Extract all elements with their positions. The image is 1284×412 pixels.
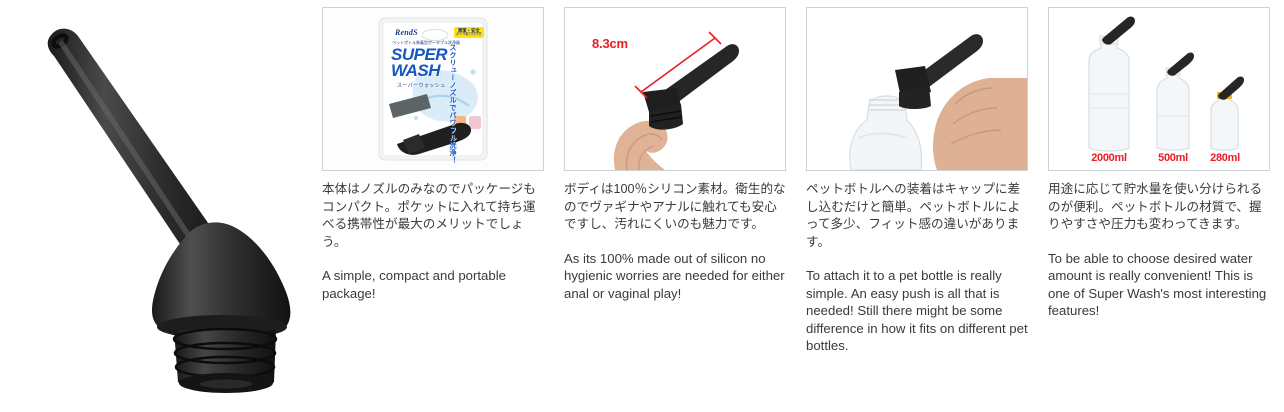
- caption-en: To be able to choose desired water amoun…: [1048, 250, 1270, 320]
- package-badge: 清潔・安全 ボトル取り付け式: [454, 27, 484, 38]
- package-badge-line2: ボトル取り付け式: [456, 33, 482, 37]
- package-kana: スーパーウォッシュ: [397, 82, 446, 89]
- hang-hole: [422, 30, 448, 41]
- three-bottle-sizes-photo: 2000ml 500ml 280ml: [1048, 7, 1270, 171]
- feature-column-package: RendS ペットボトル装着型ポータブル洗浄器 SUPER WASH スーパーウ…: [322, 0, 546, 412]
- bottle-sizes-illustration: [1049, 8, 1269, 170]
- feature-column-capacity: 2000ml 500ml 280ml 用途に応じて貯水量を使い分けられるのが便利…: [1048, 0, 1272, 412]
- feature-column-size: 8.3cm ボディは100％シリコン素材。衛生的なのでヴァギナやアナルに触れても…: [564, 0, 788, 412]
- hand-holding-nozzle-photo: 8.3cm: [564, 7, 786, 171]
- nozzle-illustration: [0, 0, 318, 412]
- caption-size: ボディは100％シリコン素材。衛生的なのでヴァギナやアナルに触れても安心ですし、…: [564, 181, 788, 302]
- caption-en: As its 100% made out of silicon no hygie…: [564, 250, 786, 303]
- bottle-label-280ml: 280ml: [1199, 152, 1251, 164]
- water-drop-2: [414, 116, 418, 120]
- caption-capacity: 用途に応じて貯水量を使い分けられるのが便利。ペットボトルの材質で、握りやすさや圧…: [1048, 181, 1272, 320]
- caption-en: A simple, compact and portable package!: [322, 267, 544, 302]
- package-title-line1: SUPER: [391, 47, 447, 62]
- caption-package: 本体はノズルのみなのでパッケージもコンパクト。ポケットに入れて持ち運べる携帯性が…: [322, 181, 546, 302]
- caption-jp: 用途に応じて貯水量を使い分けられるのが便利。ペットボトルの材質で、握りやすさや圧…: [1048, 181, 1270, 234]
- bottle-2000ml: [1089, 42, 1129, 151]
- caption-jp: ボディは100％シリコン素材。衛生的なのでヴァギナやアナルに触れても安心ですし、…: [564, 181, 786, 234]
- hero-product-image: [0, 0, 318, 412]
- caption-jp: 本体はノズルのみなのでパッケージもコンパクト。ポケットに入れて持ち運べる携帯性が…: [322, 181, 544, 251]
- package-photo: RendS ペットボトル装着型ポータブル洗浄器 SUPER WASH スーパーウ…: [322, 7, 544, 171]
- package-title-line2: WASH: [391, 63, 440, 78]
- package-brand-logo: RendS: [395, 28, 418, 37]
- bottle-label-2000ml: 2000ml: [1077, 152, 1141, 164]
- product-feature-page: RendS ペットボトル装着型ポータブル洗浄器 SUPER WASH スーパーウ…: [0, 0, 1284, 412]
- measurement-label: 8.3cm: [592, 36, 628, 51]
- bottle-label-500ml: 500ml: [1145, 152, 1201, 164]
- chip-pink: [469, 116, 481, 129]
- caption-jp: ペットボトルへの装着はキャップに差し込むだけと簡単。ペットボトルによって多少、フ…: [806, 181, 1028, 251]
- caption-en: To attach it to a pet bottle is really s…: [806, 267, 1028, 355]
- attaching-to-bottle-photo: [806, 7, 1028, 171]
- water-drop-1: [470, 69, 475, 74]
- attach-illustration: [807, 8, 1027, 170]
- package-illustration: [323, 8, 543, 170]
- base-inner-shadow: [200, 380, 252, 389]
- package-vertical-copy: スクリューノズルでパワフル洗浄！: [447, 44, 457, 164]
- feature-columns: RendS ペットボトル装着型ポータブル洗浄器 SUPER WASH スーパーウ…: [322, 0, 1284, 412]
- bottle-280ml: [1211, 97, 1238, 150]
- feature-column-attach: ペットボトルへの装着はキャップに差し込むだけと簡単。ペットボトルによって多少、フ…: [806, 0, 1030, 412]
- bottle-500ml: [1157, 74, 1189, 150]
- nozzle-cone: [152, 222, 290, 328]
- hand-size-illustration: [565, 8, 785, 170]
- caption-attach: ペットボトルへの装着はキャップに差し込むだけと簡単。ペットボトルによって多少、フ…: [806, 181, 1030, 355]
- tube-highlight: [62, 44, 206, 262]
